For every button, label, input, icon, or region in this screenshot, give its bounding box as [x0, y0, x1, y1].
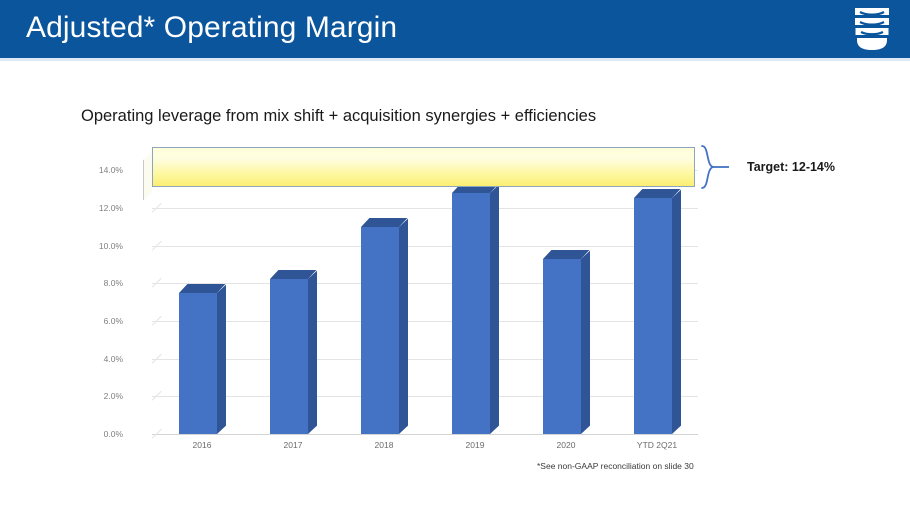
- y-axis-tick-label: 8.0%: [104, 278, 123, 288]
- operating-margin-chart: 14.0%12.0%10.0%8.0%6.0%4.0%2.0%0.0% Targ…: [0, 0, 910, 512]
- gridline: [152, 208, 698, 209]
- y-axis-tick-label: 6.0%: [104, 316, 123, 326]
- target-range-band: [152, 147, 695, 187]
- y-axis-tick-label: 2.0%: [104, 391, 123, 401]
- target-band-side: [143, 152, 152, 200]
- gridline: [152, 246, 698, 247]
- gridline: [152, 321, 698, 322]
- target-callout-label: Target: 12-14%: [747, 160, 835, 174]
- y-axis-tick-label: 10.0%: [99, 241, 123, 251]
- gridline: [152, 434, 698, 435]
- gridline: [152, 359, 698, 360]
- y-axis-tick-label: 0.0%: [104, 429, 123, 439]
- y-axis-tick-label: 14.0%: [99, 165, 123, 175]
- x-axis-tick-label: 2019: [466, 440, 485, 450]
- x-axis-tick-label: 2020: [557, 440, 576, 450]
- y-axis: 14.0%12.0%10.0%8.0%6.0%4.0%2.0%0.0%: [78, 140, 123, 435]
- x-axis-tick-label: 2018: [375, 440, 394, 450]
- x-axis-tick-label: 2016: [193, 440, 212, 450]
- x-axis-tick-label: 2017: [284, 440, 303, 450]
- y-axis-tick-label: 12.0%: [99, 203, 123, 213]
- y-axis-tick-label: 4.0%: [104, 354, 123, 364]
- gridline: [152, 396, 698, 397]
- x-axis: 20162017201820192020YTD 2Q21: [130, 440, 698, 456]
- x-axis-tick-label: YTD 2Q21: [637, 440, 677, 450]
- gridline: [152, 283, 698, 284]
- target-brace-icon: [700, 144, 730, 190]
- footnote: *See non-GAAP reconciliation on slide 30: [537, 461, 694, 471]
